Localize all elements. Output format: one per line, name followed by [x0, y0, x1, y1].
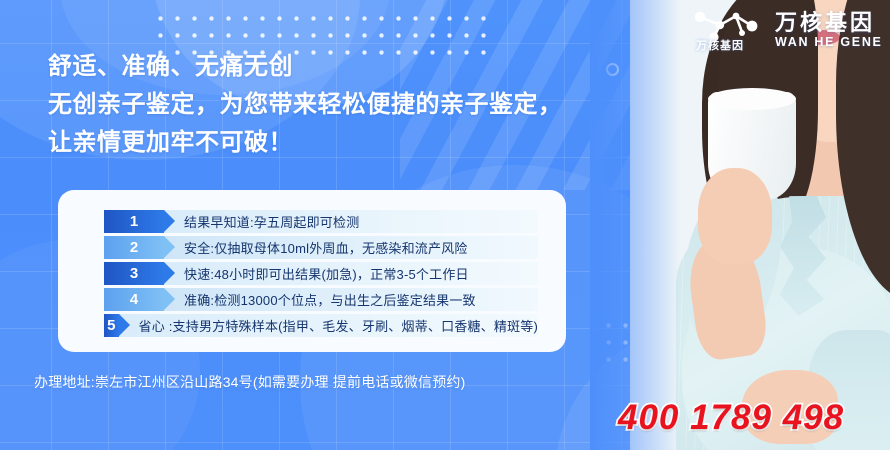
brand-name-cn: 万核基因 [775, 11, 883, 34]
pregnant-woman-photo [590, 0, 890, 450]
feature-row: 4准确:检测13000个位点，与出生之后鉴定结果一致 [104, 288, 538, 311]
promo-banner: 万核基因 万核基因 WAN HE GENE 舒适、准确、无痛无创 无创亲子鉴定，… [0, 0, 890, 450]
feature-row: 5省心 :支持男方特殊样本(指甲、毛发、牙刷、烟蒂、口香糖、精斑等) [104, 314, 538, 337]
headline: 舒适、准确、无痛无创 无创亲子鉴定，为您带来轻松便捷的亲子鉴定， 让亲情更加牢不… [48, 48, 563, 162]
logo-mark-label: 万核基因 [696, 37, 744, 53]
feature-number-badge: 1 [104, 210, 164, 233]
features-list: 1结果早知道:孕五周起即可检测2安全:仅抽取母体10ml外周血，无感染和流产风险… [104, 210, 538, 340]
feature-text: 结果早知道:孕五周起即可检测 [164, 210, 538, 233]
feature-number-badge: 2 [104, 236, 164, 259]
feature-number-badge: 3 [104, 262, 164, 285]
feature-row: 2安全:仅抽取母体10ml外周血，无感染和流产风险 [104, 236, 538, 259]
feature-number: 5 [107, 317, 115, 334]
feature-number: 4 [130, 291, 138, 308]
headline-line-3: 让亲情更加牢不可破！ [48, 124, 563, 162]
brand-logo[interactable]: 万核基因 万核基因 WAN HE GENE [690, 8, 883, 52]
headline-line-2: 无创亲子鉴定，为您带来轻松便捷的亲子鉴定， [48, 86, 563, 124]
feature-row: 3快速:48小时即可出结果(加急)，正常3-5个工作日 [104, 262, 538, 285]
feature-number-badge: 5 [104, 314, 119, 337]
hotline-phone-number[interactable]: 400 1789 498 [618, 398, 844, 438]
office-address: 办理地址:崇左市江州区沿山路34号(如需要办理 提前电话或微信预约) [34, 372, 465, 392]
features-panel: 1结果早知道:孕五周起即可检测2安全:仅抽取母体10ml外周血，无感染和流产风险… [58, 190, 566, 352]
feature-number: 1 [130, 213, 138, 230]
feature-text: 准确:检测13000个位点，与出生之后鉴定结果一致 [164, 288, 538, 311]
feature-number: 2 [130, 239, 138, 256]
feature-text: 快速:48小时即可出结果(加急)，正常3-5个工作日 [164, 262, 538, 285]
feature-number: 3 [130, 265, 138, 282]
dna-molecule-icon: 万核基因 [690, 8, 766, 52]
brand-name-en: WAN HE GENE [775, 35, 883, 49]
feature-row: 1结果早知道:孕五周起即可检测 [104, 210, 538, 233]
feature-number-badge: 4 [104, 288, 164, 311]
headline-line-1: 舒适、准确、无痛无创 [48, 48, 563, 86]
feature-text: 省心 :支持男方特殊样本(指甲、毛发、牙刷、烟蒂、口香糖、精斑等) [119, 314, 538, 337]
feature-text: 安全:仅抽取母体10ml外周血，无感染和流产风险 [164, 236, 538, 259]
